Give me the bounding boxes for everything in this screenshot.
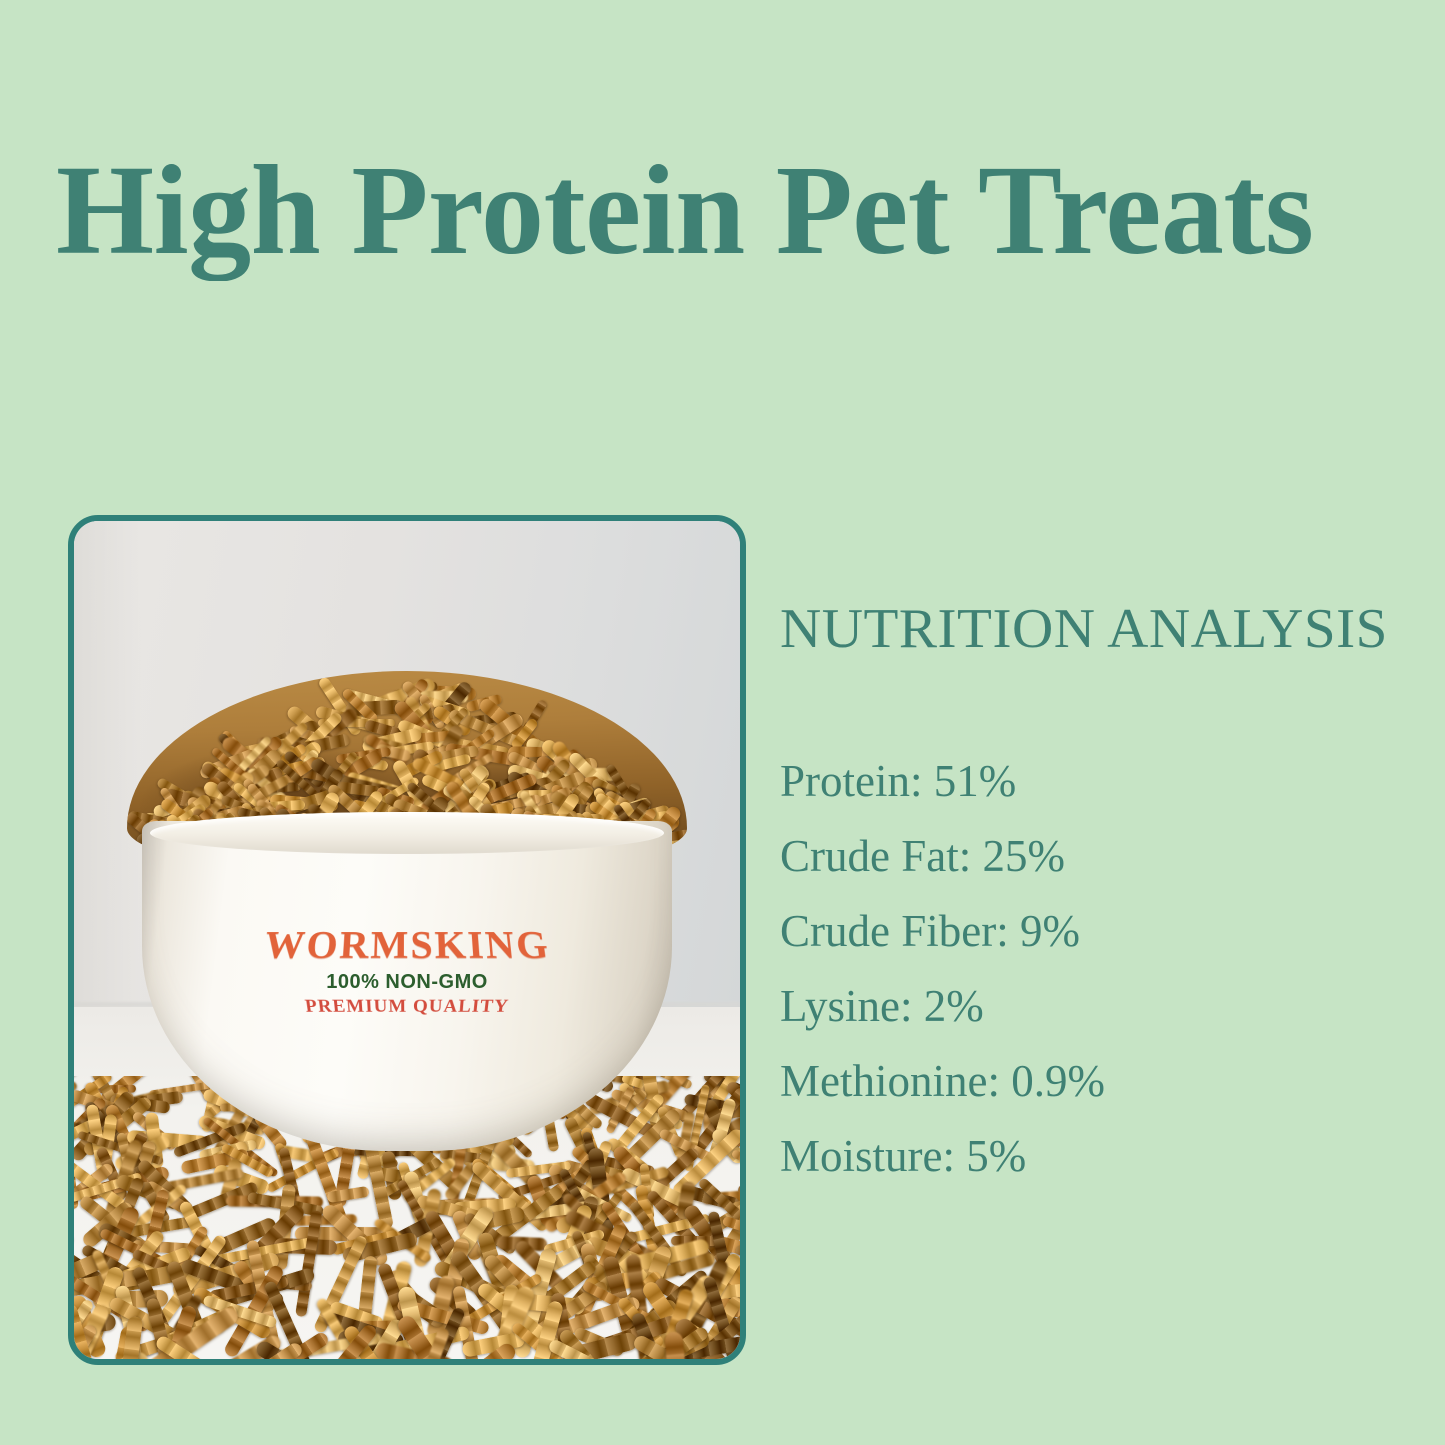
page-title: High Protein Pet Treats bbox=[56, 140, 1381, 280]
nutrition-item-crude-fat: Crude Fat: 25% bbox=[780, 819, 1405, 894]
product-photo: WORMSKING 100% NON-GMO PREMIUM QUALITY bbox=[74, 521, 740, 1359]
nutrition-list: Protein: 51% Crude Fat: 25% Crude Fiber:… bbox=[780, 744, 1405, 1194]
nutrition-item-lysine: Lysine: 2% bbox=[780, 969, 1405, 1044]
nutrition-analysis-heading: NUTRITION ANALYSIS bbox=[780, 600, 1418, 658]
nutrition-item-moisture: Moisture: 5% bbox=[780, 1119, 1405, 1194]
product-photo-frame: WORMSKING 100% NON-GMO PREMIUM QUALITY bbox=[68, 515, 746, 1365]
nutrition-item-protein: Protein: 51% bbox=[780, 744, 1405, 819]
bowl-rim bbox=[150, 812, 664, 854]
poster-canvas: High Protein Pet Treats WORMSKING 100% N… bbox=[0, 0, 1445, 1445]
nutrition-item-crude-fiber: Crude Fiber: 9% bbox=[780, 894, 1405, 969]
nutrition-item-methionine: Methionine: 0.9% bbox=[780, 1044, 1405, 1119]
bowl: WORMSKING 100% NON-GMO PREMIUM QUALITY bbox=[142, 821, 672, 1151]
nutrition-panel: NUTRITION ANALYSIS Protein: 51% Crude Fa… bbox=[780, 600, 1405, 1194]
photo-backdrop-corner bbox=[74, 521, 141, 1024]
bowl-body bbox=[142, 821, 672, 1151]
